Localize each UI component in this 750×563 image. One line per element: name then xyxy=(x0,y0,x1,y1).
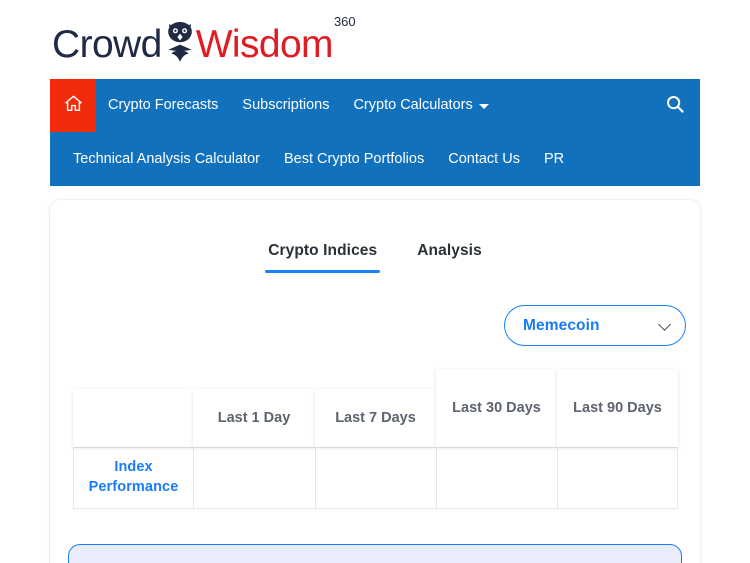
chevron-down-icon xyxy=(658,318,671,331)
page-root: Crowd xyxy=(0,0,750,563)
table-header-cell-last-30-days[interactable]: Last 30 Days xyxy=(436,369,557,447)
chevron-down-icon xyxy=(479,104,489,109)
logo-superscript-360: 360 xyxy=(334,15,356,28)
home-icon xyxy=(64,94,83,118)
nav-row-primary: Crypto Forecasts Subscriptions Crypto Ca… xyxy=(50,79,700,132)
nav-item-label: Technical Analysis Calculator xyxy=(73,152,260,167)
main-navigation: Crypto Forecasts Subscriptions Crypto Ca… xyxy=(50,79,700,186)
table-header-cell-blank[interactable] xyxy=(73,389,193,447)
category-select[interactable]: Memecoin xyxy=(504,305,686,346)
table-cell-last-30-days xyxy=(436,447,557,509)
nav-item-label: Subscriptions xyxy=(242,98,329,113)
nav-item-label: Crypto Forecasts xyxy=(108,98,218,113)
logo-text-wisdom: Wisdom xyxy=(196,25,333,64)
row-label-index-performance: Index Performance xyxy=(74,458,193,497)
nav-item-crypto-calculators[interactable]: Crypto Calculators xyxy=(341,98,500,113)
nav-item-subscriptions[interactable]: Subscriptions xyxy=(230,98,341,113)
table-cell-last-7-days xyxy=(315,447,436,509)
category-select-value: Memecoin xyxy=(523,317,600,335)
nav-item-pr[interactable]: PR xyxy=(532,152,576,167)
content-card: Crypto Indices Analysis Memecoin Last 1 … xyxy=(50,200,700,563)
nav-row-secondary: Technical Analysis Calculator Best Crypt… xyxy=(50,132,700,186)
nav-item-label: Contact Us xyxy=(448,152,520,167)
select-row: Memecoin xyxy=(50,273,700,346)
table-header-cell-last-7-days[interactable]: Last 7 Days xyxy=(315,389,436,447)
site-logo[interactable]: Crowd xyxy=(52,14,356,64)
nav-item-technical-analysis-calculator[interactable]: Technical Analysis Calculator xyxy=(61,152,272,167)
tab-label: Crypto Indices xyxy=(268,242,377,259)
table-row: Index Performance xyxy=(73,447,678,509)
nav-item-label: Crypto Calculators xyxy=(353,98,472,113)
nav-item-label: Best Crypto Portfolios xyxy=(284,152,424,167)
home-button[interactable] xyxy=(50,79,96,132)
nav-item-best-crypto-portfolios[interactable]: Best Crypto Portfolios xyxy=(272,152,436,167)
tab-analysis[interactable]: Analysis xyxy=(417,242,482,273)
nav-item-label: PR xyxy=(544,152,564,167)
highlighted-panel[interactable] xyxy=(68,544,682,563)
table-header-row: Last 1 Day Last 7 Days Last 30 Days Last… xyxy=(73,369,678,447)
table-cell-last-1-day xyxy=(193,447,315,509)
tab-label: Analysis xyxy=(417,242,482,259)
tab-crypto-indices[interactable]: Crypto Indices xyxy=(268,242,377,273)
tab-bar: Crypto Indices Analysis xyxy=(50,200,700,273)
index-performance-table: Last 1 Day Last 7 Days Last 30 Days Last… xyxy=(73,369,678,509)
search-icon xyxy=(665,94,685,119)
logo-text-crowd: Crowd xyxy=(52,25,162,64)
search-button[interactable] xyxy=(664,95,686,117)
nav-item-crypto-forecasts[interactable]: Crypto Forecasts xyxy=(96,98,230,113)
table-cell-last-90-days xyxy=(557,447,678,509)
table-header-cell-last-90-days[interactable]: Last 90 Days xyxy=(557,369,678,447)
nav-item-contact-us[interactable]: Contact Us xyxy=(436,152,532,167)
table-cell-row-label[interactable]: Index Performance xyxy=(73,447,193,509)
owl-icon xyxy=(165,20,195,64)
table-header-cell-last-1-day[interactable]: Last 1 Day xyxy=(193,389,315,447)
